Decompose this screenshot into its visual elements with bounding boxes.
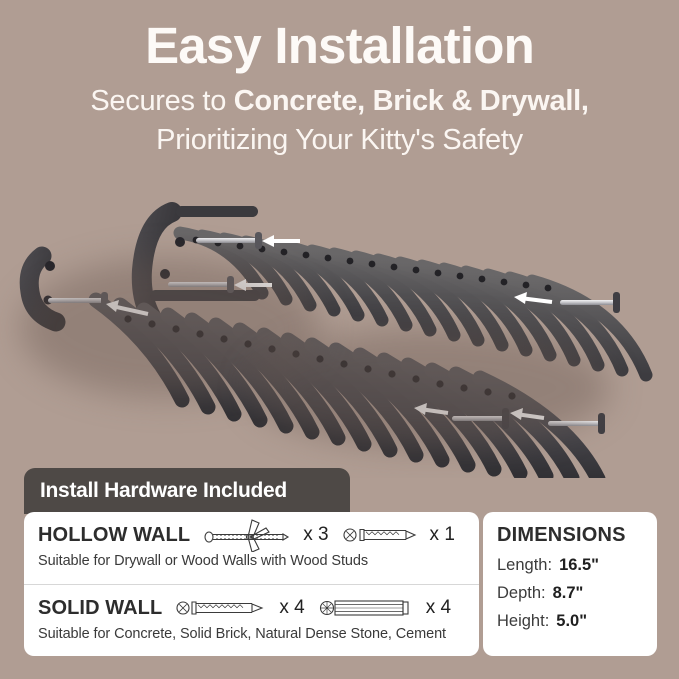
hardware-card: HOLLOW WALL x 3: [24, 512, 479, 656]
subtitle-materials: Concrete, Brick & Drywall,: [234, 85, 589, 117]
hardware-item-wood-screw: x 1: [343, 523, 455, 547]
hardware-item-qty: x 4: [426, 597, 451, 619]
hardware-row-solid-wall: SOLID WALL x 4: [24, 584, 479, 656]
wall-anchor-sleeve-icon: [319, 596, 419, 620]
hardware-row-description: Suitable for Drywall or Wood Walls with …: [38, 553, 465, 569]
hardware-item-wall-anchor: x 4: [319, 596, 451, 620]
dimension-row-length: Length:16.5": [497, 556, 657, 575]
concrete-screw-icon: [176, 596, 272, 620]
dimensions-card: DIMENSIONS Length:16.5" Depth:8.7" Heigh…: [483, 512, 657, 656]
hardware-item-toggle-bolt: x 3: [204, 518, 328, 552]
install-hardware-tab-label: Install Hardware Included: [40, 479, 287, 503]
hardware-item-qty: x 4: [279, 597, 304, 619]
toggle-bolt-icon: [204, 518, 296, 552]
hardware-row-header: SOLID WALL x 4: [38, 585, 465, 625]
dimension-row-height: Height:5.0": [497, 612, 657, 631]
hardware-item-qty: x 1: [430, 524, 455, 546]
subtitle-prefix: Secures to: [90, 85, 233, 117]
dimension-row-depth: Depth:8.7": [497, 584, 657, 603]
hardware-row-hollow-wall: HOLLOW WALL x 3: [24, 512, 479, 584]
subtitle-line-1: Secures to Concrete, Brick & Drywall,: [0, 82, 679, 120]
install-hardware-tab: Install Hardware Included: [24, 468, 350, 514]
dimension-label: Depth:: [497, 584, 546, 602]
dimensions-title: DIMENSIONS: [497, 524, 657, 547]
hardware-row-title: SOLID WALL: [38, 597, 162, 620]
dimension-value: 5.0": [556, 612, 587, 630]
product-image: [0, 178, 679, 478]
dimension-value: 8.7": [553, 584, 584, 602]
page-title: Easy Installation: [0, 18, 679, 73]
dimension-value: 16.5": [559, 556, 599, 574]
hardware-row-title: HOLLOW WALL: [38, 524, 190, 547]
subtitle-line-2: Prioritizing Your Kitty's Safety: [0, 121, 679, 159]
hardware-row-description: Suitable for Concrete, Solid Brick, Natu…: [38, 626, 465, 642]
hardware-item-qty: x 3: [303, 524, 328, 546]
header: Easy Installation Secures to Concrete, B…: [0, 0, 679, 160]
wood-screw-icon: [343, 523, 423, 547]
dimension-label: Height:: [497, 612, 549, 630]
hardware-row-header: HOLLOW WALL x 3: [38, 512, 465, 552]
dimension-label: Length:: [497, 556, 552, 574]
hardware-item-concrete-screw: x 4: [176, 596, 304, 620]
product-shadow-secondary: [250, 328, 610, 448]
